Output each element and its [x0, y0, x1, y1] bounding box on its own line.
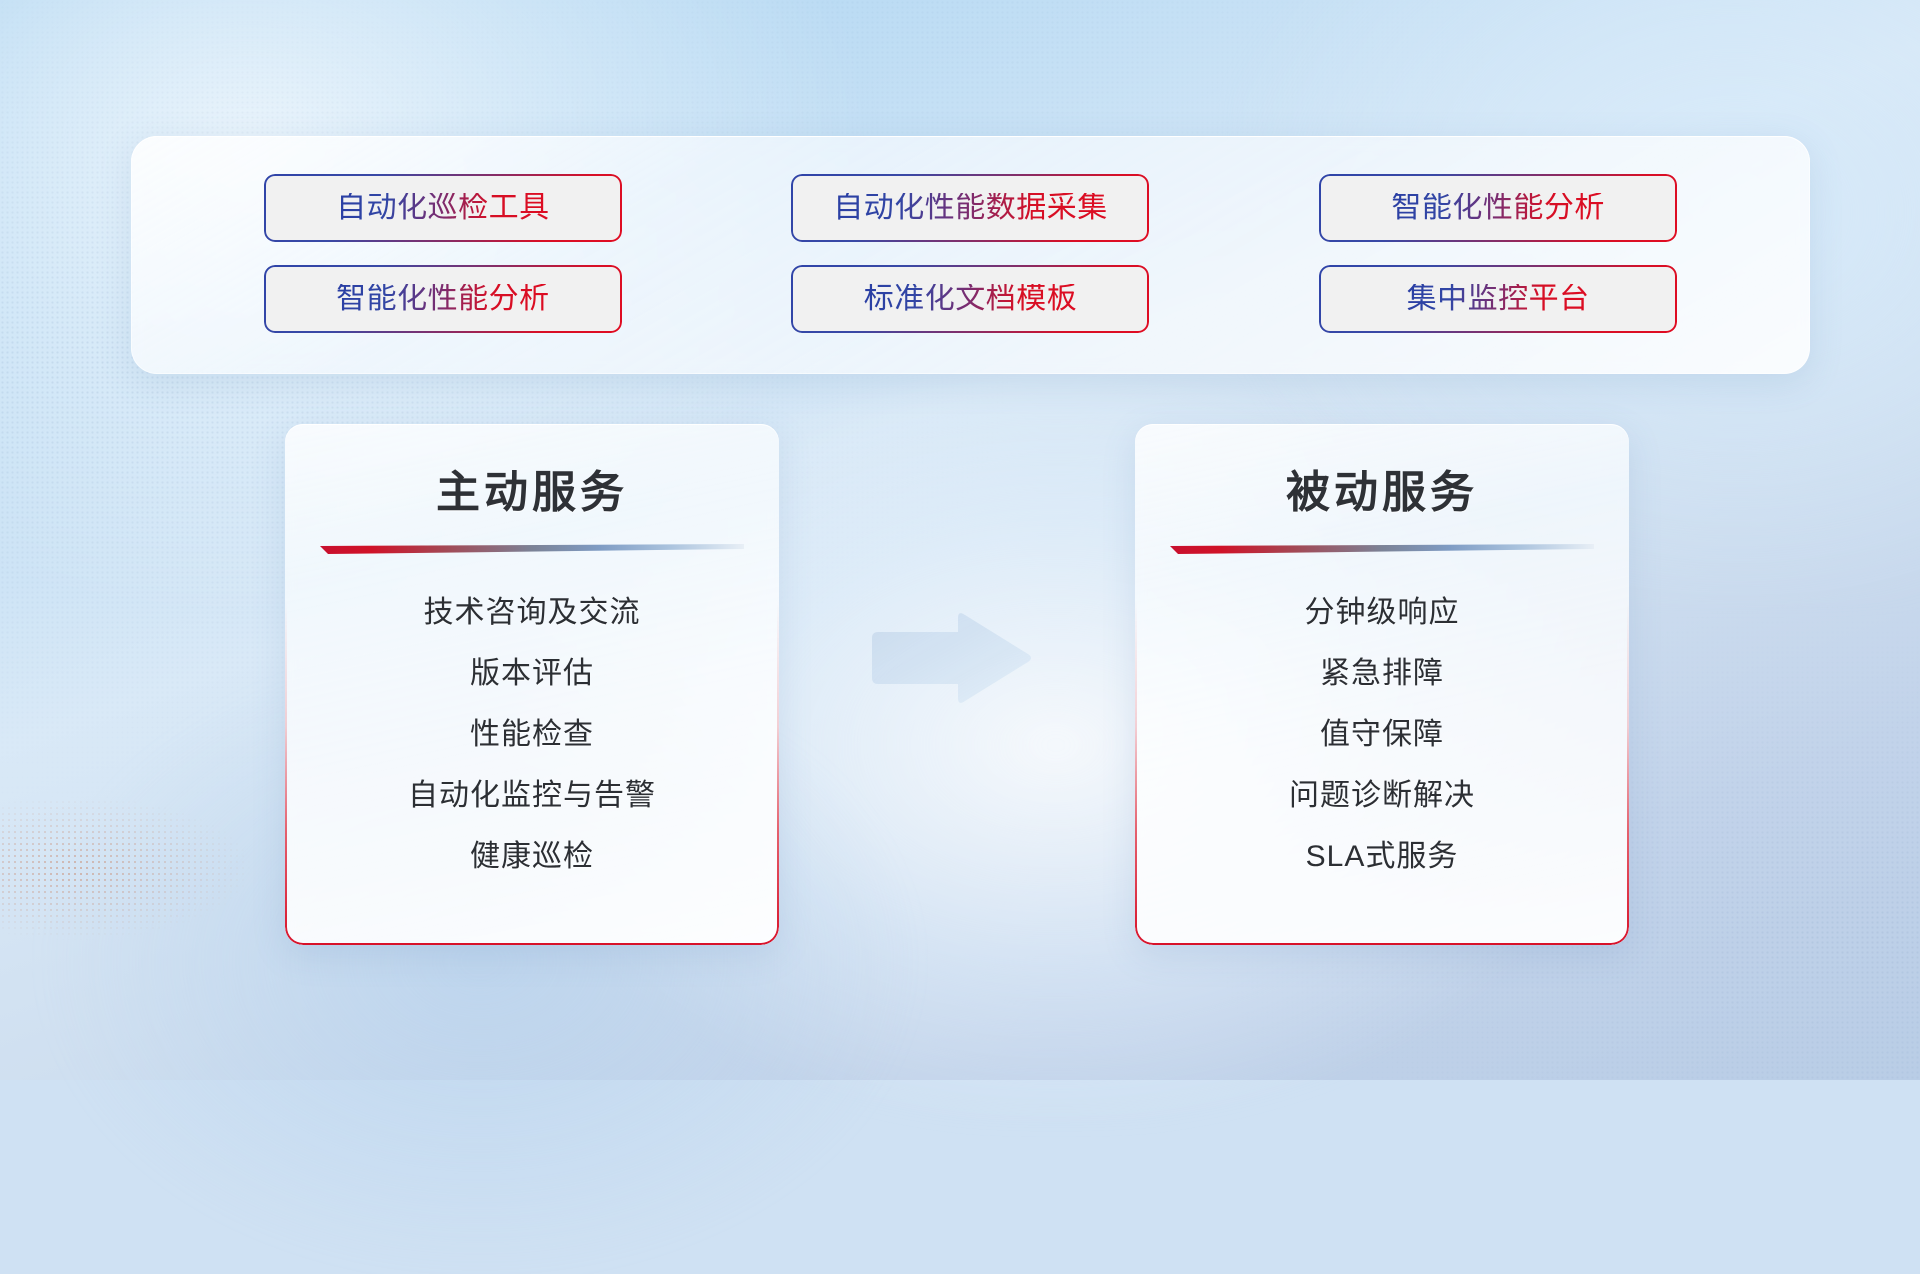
card-item-list: 分钟级响应 紧急排障 值守保障 问题诊断解决 SLA式服务 — [1135, 556, 1629, 873]
card-title: 被动服务 — [1135, 456, 1629, 520]
capability-pill-label: 智能化性能分析 — [1391, 193, 1605, 223]
service-card-proactive: 主动服务 技术咨询及交流 版本评估 性能检查 自动化监控与告警 健康巡检 — [285, 424, 779, 945]
capability-pill[interactable]: 智能化性能分析 — [1319, 174, 1677, 242]
capability-pill[interactable]: 自动化性能数据采集 — [791, 174, 1149, 242]
arrow-right-icon — [866, 609, 1034, 707]
capability-pill-label: 自动化性能数据采集 — [833, 193, 1108, 223]
capability-panel: 自动化巡检工具 自动化性能数据采集 智能化性能分析 智能化性能分析 标准化文档模… — [131, 136, 1810, 374]
card-list-item: 技术咨询及交流 — [424, 596, 641, 629]
card-list-item: 紧急排障 — [1320, 657, 1444, 690]
card-list-item: 健康巡检 — [470, 840, 594, 873]
card-list-item: 值守保障 — [1320, 718, 1444, 751]
card-list-item: 版本评估 — [470, 657, 594, 690]
card-title: 主动服务 — [285, 456, 779, 520]
capability-pill-label: 智能化性能分析 — [336, 284, 550, 314]
card-divider — [320, 544, 744, 556]
card-list-item: 自动化监控与告警 — [408, 779, 656, 812]
card-divider — [1170, 544, 1594, 556]
card-list-item: 分钟级响应 — [1305, 596, 1460, 629]
card-list-item: SLA式服务 — [1306, 840, 1459, 873]
card-list-item: 性能检查 — [470, 718, 594, 751]
card-list-item: 问题诊断解决 — [1289, 779, 1475, 812]
capability-pill-label: 自动化巡检工具 — [336, 193, 550, 223]
capability-pill-label: 集中监控平台 — [1407, 284, 1590, 314]
capability-pill[interactable]: 智能化性能分析 — [264, 265, 622, 333]
capability-pill-label: 标准化文档模板 — [864, 284, 1078, 314]
service-card-reactive: 被动服务 分钟级响应 紧急排障 值守保障 问题诊断解决 SLA式服务 — [1135, 424, 1629, 945]
capability-pill[interactable]: 自动化巡检工具 — [264, 174, 622, 242]
card-item-list: 技术咨询及交流 版本评估 性能检查 自动化监控与告警 健康巡检 — [285, 556, 779, 873]
capability-pill[interactable]: 标准化文档模板 — [791, 265, 1149, 333]
capability-pill[interactable]: 集中监控平台 — [1319, 265, 1677, 333]
